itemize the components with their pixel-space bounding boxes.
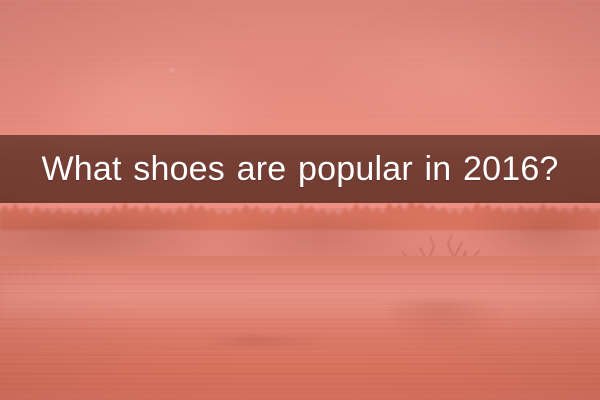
image-card: What shoes are popular in 2016? — [0, 0, 600, 400]
caption-text: What shoes are popular in 2016? — [41, 152, 558, 186]
bird-speck-icon — [170, 69, 174, 72]
water-ripples — [0, 256, 600, 400]
cloud-bloom-right — [312, 16, 588, 136]
caption-banner: What shoes are popular in 2016? — [0, 135, 600, 203]
